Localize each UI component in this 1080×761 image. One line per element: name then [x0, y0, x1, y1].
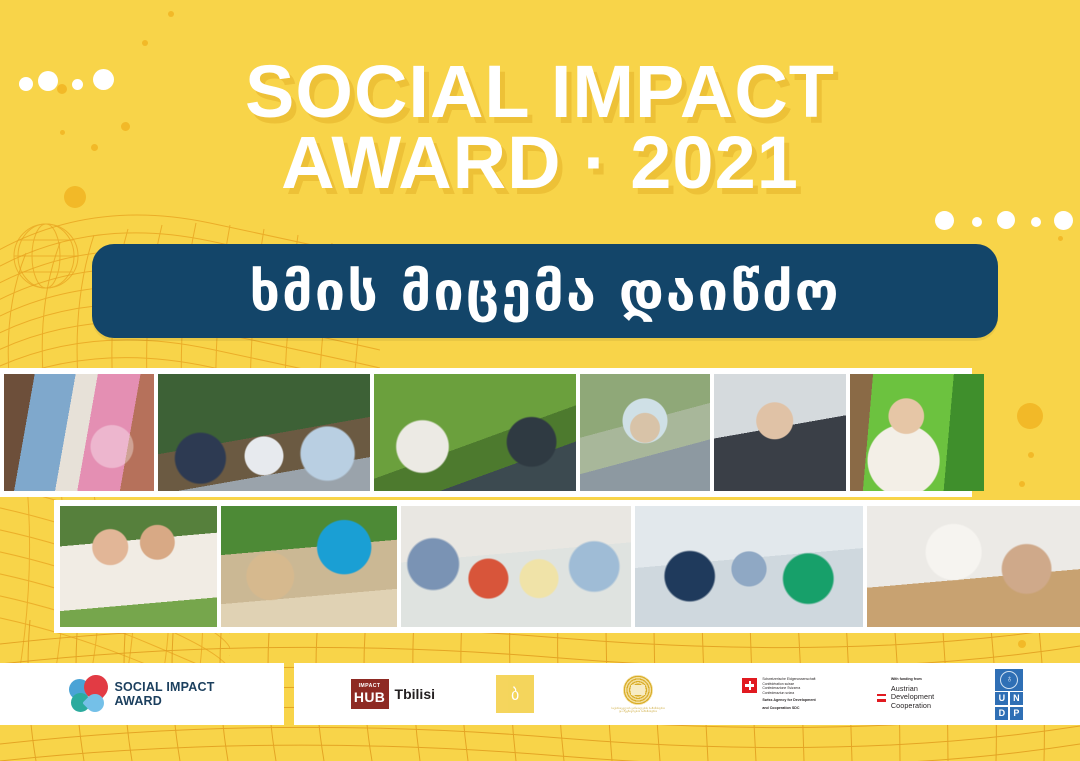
impact-hub-city-label: Tbilisi — [395, 686, 435, 702]
swiss-sdc-text: Schweizerische Eidgenossenschaft Confédé… — [762, 677, 815, 711]
ministry-emblem-logo: საქართველოს განათლების სამინისტრო და მეც… — [595, 675, 681, 714]
decor-dot — [1018, 640, 1026, 648]
headline-line-1: SOCIAL IMPACT — [0, 56, 1080, 127]
undp-letter-d: D — [995, 707, 1008, 720]
poster-root: SOCIAL IMPACT AWARD · 2021 ხმის მიცემა დ… — [0, 0, 1080, 761]
swiss-flag-icon — [742, 678, 757, 693]
decor-dot — [1054, 211, 1073, 230]
photo-thumbnail — [635, 506, 863, 627]
photo-row-1 — [4, 374, 984, 491]
gold-square-emblem-icon: ბ — [496, 675, 534, 713]
footer-logo-bar: SOCIAL IMPACT AWARD IMPACT HUB Tbilisi ბ — [0, 663, 1080, 725]
decor-dot — [997, 211, 1015, 229]
footer-pane-divider — [284, 663, 294, 725]
decor-dot — [1028, 452, 1034, 458]
globe-wire-icon — [6, 216, 86, 296]
austria-funding-note: With funding from — [891, 677, 934, 681]
photo-thumbnail — [374, 374, 576, 491]
photo-thumbnail — [221, 506, 397, 627]
headline-line-2: AWARD · 2021 — [0, 127, 1080, 198]
decor-dot — [168, 11, 174, 17]
decor-dot — [1017, 403, 1043, 429]
photo-thumbnail — [580, 374, 710, 491]
austria-name-line-3: Cooperation — [891, 702, 934, 711]
photo-thumbnail — [4, 374, 154, 491]
decor-dot — [1058, 236, 1063, 241]
photo-thumbnail — [401, 506, 631, 627]
impact-hub-tbilisi-logo: IMPACT HUB Tbilisi — [351, 679, 435, 709]
swiss-line-4: Confederaziun svizra — [762, 691, 815, 696]
swiss-agency-line-1: Swiss Agency for Development — [762, 698, 815, 703]
sia-flower-icon — [69, 675, 107, 713]
photo-thumbnail — [714, 374, 846, 491]
impact-hub-mark-icon: IMPACT HUB — [351, 679, 389, 709]
undp-emblem-box: ♁ — [995, 669, 1023, 691]
ministry-caption: საქართველოს განათლების სამინისტრო და მეც… — [595, 707, 681, 714]
decor-dot — [1019, 481, 1025, 487]
announcement-banner-text: ხმის მიცემა დაიწძო — [249, 260, 840, 323]
photo-row-2 — [60, 506, 1080, 627]
undp-letter-row: U N — [995, 692, 1023, 705]
announcement-banner: ხმის მიცემა დაიწძო — [92, 244, 998, 338]
photo-thumbnail — [60, 506, 217, 627]
decor-dot — [142, 40, 148, 46]
undp-letter-n: N — [1010, 692, 1023, 705]
undp-letter-grid: U N D P — [995, 692, 1023, 720]
sia-wordmark-line-2: AWARD — [114, 694, 214, 708]
photo-thumbnail — [867, 506, 1080, 627]
social-impact-award-logo: SOCIAL IMPACT AWARD — [69, 675, 214, 713]
austria-name-block: Austrian Development Cooperation — [891, 685, 934, 711]
impact-hub-big-text: HUB — [354, 690, 385, 704]
austria-flag-icon — [877, 694, 886, 702]
undp-letter-u: U — [995, 692, 1008, 705]
decor-dot — [972, 217, 982, 227]
sia-wordmark: SOCIAL IMPACT AWARD — [114, 680, 214, 708]
swiss-line-1: Schweizerische Eidgenossenschaft — [762, 677, 815, 682]
decor-dot — [1031, 217, 1041, 227]
undp-logo: ♁ U N D P — [995, 669, 1023, 720]
ministry-circle-icon — [623, 675, 653, 705]
swiss-sdc-logo: Schweizerische Eidgenossenschaft Confédé… — [742, 677, 815, 711]
poster-headline: SOCIAL IMPACT AWARD · 2021 — [0, 56, 1080, 198]
undp-letter-row: D P — [995, 707, 1023, 720]
footer-pane-partner-logos: IMPACT HUB Tbilisi ბ საქართველოს განათლე… — [294, 663, 1080, 725]
photo-thumbnail — [850, 374, 984, 491]
footer-pane-primary-logo: SOCIAL IMPACT AWARD — [0, 663, 284, 725]
photo-thumbnail — [158, 374, 370, 491]
austria-logo-row: Austrian Development Cooperation — [877, 685, 934, 711]
swiss-agency-line-2: and Cooperation SDC — [762, 706, 815, 711]
ministry-caption-line-2: და მეცნიერების სამინისტრო — [595, 710, 681, 714]
austrian-development-cooperation-logo: With funding from Austrian Development C… — [877, 677, 934, 711]
sia-wordmark-line-1: SOCIAL IMPACT — [114, 680, 214, 694]
un-emblem-icon: ♁ — [1000, 671, 1018, 689]
undp-letter-p: P — [1010, 707, 1023, 720]
decor-dot — [935, 211, 954, 230]
